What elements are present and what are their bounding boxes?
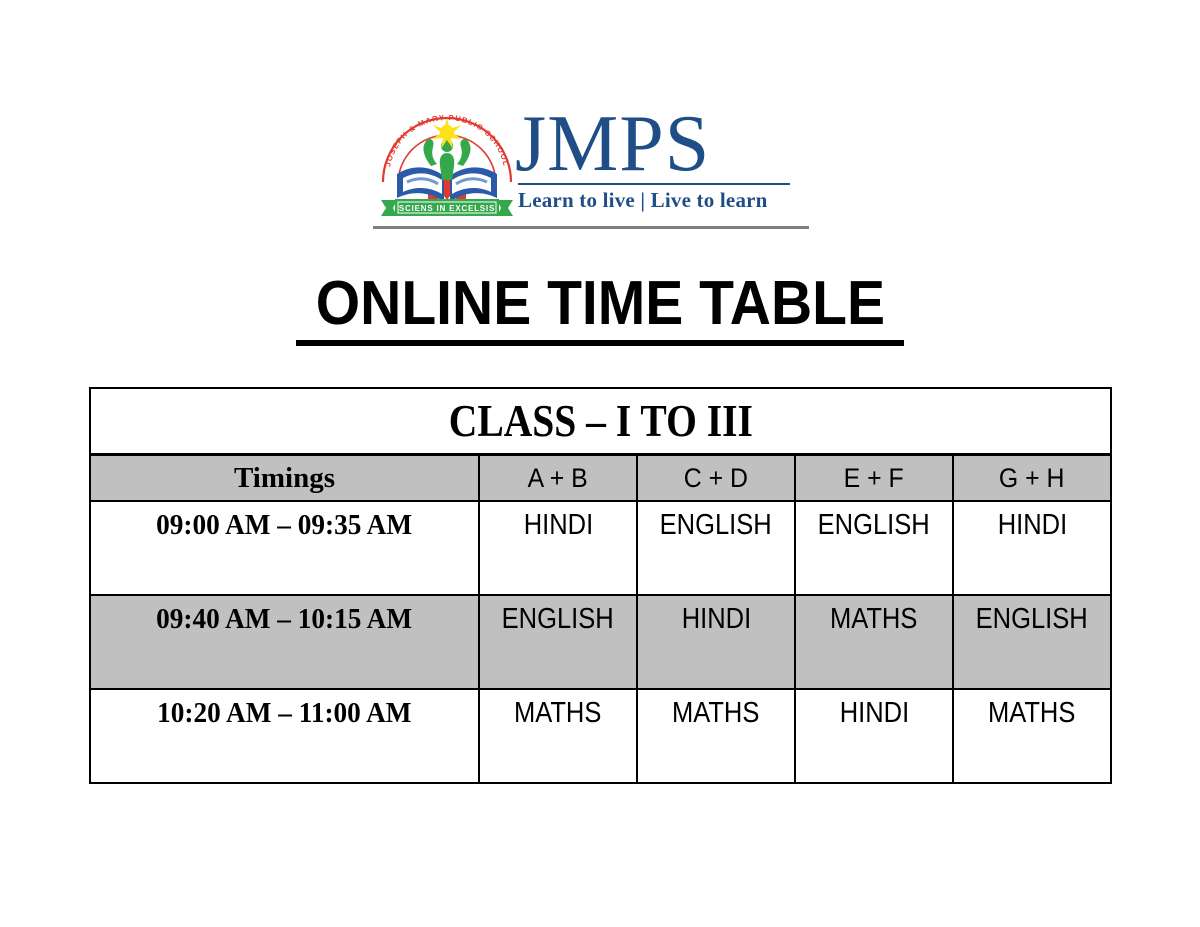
subject-label: ENGLISH (502, 604, 614, 634)
header-label-cd: C + D (684, 465, 748, 492)
time-cell: 10:20 AM – 11:00 AM (90, 689, 479, 783)
header-cell-timings: Timings (90, 455, 479, 502)
class-title: CLASS – I TO III (448, 398, 752, 444)
subject-label: HINDI (523, 510, 592, 540)
subject-cell-cd: MATHS (637, 689, 795, 783)
subject-cell-gh: HINDI (953, 501, 1111, 595)
page-title-underline (296, 340, 904, 346)
timetable: CLASS – I TO III Timings A + B C + D E +… (89, 387, 1112, 784)
jmps-tagline: Learn to live | Live to learn (518, 188, 790, 213)
subject-label: HINDI (839, 698, 908, 728)
time-cell: 09:00 AM – 09:35 AM (90, 501, 479, 595)
school-logo-block: JOSEPH & MARY PUBLIC SCHOOL (373, 104, 809, 228)
subject-label: MATHS (830, 604, 917, 634)
subject-cell-ef: HINDI (795, 689, 953, 783)
subject-label: HINDI (997, 510, 1066, 540)
subject-cell-ab: MATHS (479, 689, 637, 783)
header-label-timings: Timings (234, 462, 335, 494)
header-cell-ab: A + B (479, 455, 637, 502)
subject-label: MATHS (514, 698, 601, 728)
header-cell-ef: E + F (795, 455, 953, 502)
table-header-row: Timings A + B C + D E + F G + H (90, 455, 1111, 502)
school-emblem-icon: JOSEPH & MARY PUBLIC SCHOOL (373, 104, 521, 220)
time-slot-label: 09:40 AM – 10:15 AM (157, 604, 413, 634)
timetable-container: CLASS – I TO III Timings A + B C + D E +… (89, 387, 1112, 784)
header-label-ab: A + B (528, 465, 588, 492)
subject-label: MATHS (672, 698, 759, 728)
subject-label: MATHS (988, 698, 1075, 728)
svg-text:SCIENS IN EXCELSIS: SCIENS IN EXCELSIS (399, 204, 495, 213)
header-label-gh: G + H (999, 465, 1065, 492)
subject-cell-cd: ENGLISH (637, 501, 795, 595)
jmps-wordmark: JMPS Learn to live | Live to learn (515, 104, 790, 213)
subject-cell-gh: MATHS (953, 689, 1111, 783)
subject-cell-ab: ENGLISH (479, 595, 637, 689)
time-slot-label: 09:00 AM – 09:35 AM (157, 510, 413, 540)
class-title-cell: CLASS – I TO III (90, 388, 1111, 455)
subject-label: ENGLISH (660, 510, 772, 540)
header-cell-cd: C + D (637, 455, 795, 502)
class-title-row: CLASS – I TO III (90, 388, 1111, 455)
subject-cell-gh: ENGLISH (953, 595, 1111, 689)
subject-label: HINDI (681, 604, 750, 634)
header-cell-gh: G + H (953, 455, 1111, 502)
table-row: 10:20 AM – 11:00 AM MATHS MATHS HINDI MA… (90, 689, 1111, 783)
time-cell: 09:40 AM – 10:15 AM (90, 595, 479, 689)
page-title-block: ONLINE TIME TABLE (0, 272, 1200, 346)
subject-cell-ef: MATHS (795, 595, 953, 689)
header-divider (373, 226, 809, 229)
table-row: 09:40 AM – 10:15 AM ENGLISH HINDI MATHS … (90, 595, 1111, 689)
subject-cell-cd: HINDI (637, 595, 795, 689)
subject-label: ENGLISH (976, 604, 1088, 634)
page-title: ONLINE TIME TABLE (315, 272, 884, 335)
header-label-ef: E + F (844, 465, 904, 492)
time-slot-label: 10:20 AM – 11:00 AM (157, 698, 411, 728)
subject-label: ENGLISH (818, 510, 930, 540)
jmps-letters: JMPS (515, 106, 790, 182)
subject-cell-ef: ENGLISH (795, 501, 953, 595)
table-row: 09:00 AM – 09:35 AM HINDI ENGLISH ENGLIS… (90, 501, 1111, 595)
subject-cell-ab: HINDI (479, 501, 637, 595)
